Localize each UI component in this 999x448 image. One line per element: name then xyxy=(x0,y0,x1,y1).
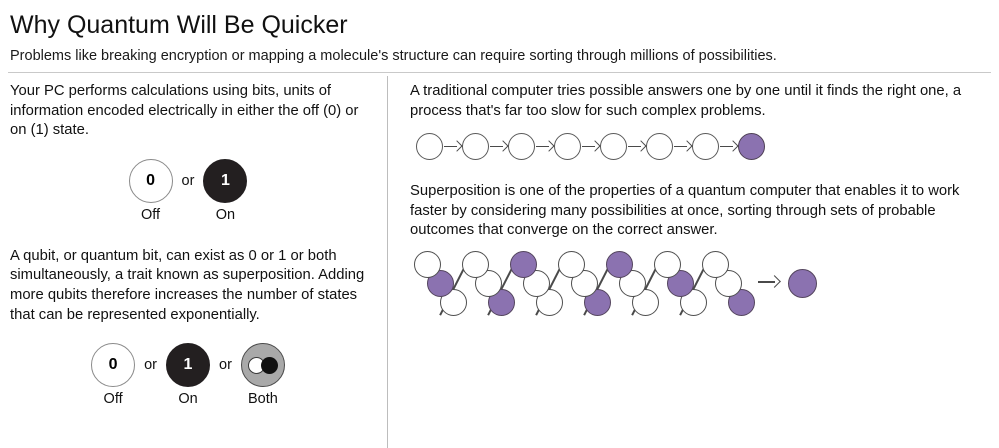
qubit-diagram: 0 Off or 1 On or Both xyxy=(10,343,366,407)
chain-node-1-empty-icon xyxy=(416,133,443,160)
qubit-both-inner-black-icon xyxy=(261,357,278,374)
bit-state-on: 1 On xyxy=(203,159,247,223)
chain-node-2-empty-icon xyxy=(462,133,489,160)
bit-label-on: On xyxy=(216,207,235,223)
bit-diagram: 0 Off or 1 On xyxy=(10,159,366,223)
content-columns: Your PC performs calculations using bits… xyxy=(0,78,999,447)
chain-arrow-5-icon xyxy=(627,141,646,153)
cluster-result-arrow-icon xyxy=(758,275,782,289)
cluster-circle-g2-1-empty-icon xyxy=(462,251,489,278)
qubit-label-on: On xyxy=(178,391,197,407)
qubit-circle-on-icon: 1 xyxy=(166,343,210,387)
qubit-state-both: Both xyxy=(241,343,285,407)
cluster-circle-g1-1-empty-icon xyxy=(414,251,441,278)
superposition-cluster-diagram xyxy=(414,251,987,323)
cluster-circle-g5-1-filled-icon xyxy=(606,251,633,278)
qubit-connector-or-1: or xyxy=(144,357,157,393)
chain-arrow-2-icon xyxy=(489,141,508,153)
qubit-connector-or-2: or xyxy=(219,357,232,393)
chain-node-8-filled-icon xyxy=(738,133,765,160)
bit-circle-off-icon: 0 xyxy=(129,159,173,203)
right-paragraph-1: A traditional computer tries possible an… xyxy=(410,82,987,121)
bit-value-off: 0 xyxy=(146,172,155,190)
qubit-label-both: Both xyxy=(248,391,278,407)
chain-arrow-7-icon xyxy=(719,141,738,153)
bit-label-off: Off xyxy=(141,207,160,223)
cluster-circle-g6-1-empty-icon xyxy=(654,251,681,278)
cluster-group-7 xyxy=(702,251,758,321)
chain-arrow-6-icon xyxy=(673,141,692,153)
chain-node-3-empty-icon xyxy=(508,133,535,160)
column-divider xyxy=(387,76,388,448)
cluster-result-node-filled-icon xyxy=(788,269,817,298)
qubit-state-on: 1 On xyxy=(166,343,210,407)
left-column: Your PC performs calculations using bits… xyxy=(0,78,388,447)
chain-node-6-empty-icon xyxy=(646,133,673,160)
qubit-label-off: Off xyxy=(104,391,123,407)
header-divider xyxy=(8,72,991,73)
bit-state-off: 0 Off xyxy=(129,159,173,223)
bit-value-on: 1 xyxy=(221,172,230,190)
cluster-circle-g3-1-filled-icon xyxy=(510,251,537,278)
cluster-circle-g7-1-empty-icon xyxy=(702,251,729,278)
chain-arrow-3-icon xyxy=(535,141,554,153)
sequential-search-diagram xyxy=(416,133,987,160)
qubit-circle-both-icon xyxy=(241,343,285,387)
header: Why Quantum Will Be Quicker Problems lik… xyxy=(0,0,999,65)
qubit-value-on: 1 xyxy=(184,356,193,374)
page-subtitle: Problems like breaking encryption or map… xyxy=(10,40,989,65)
qubit-state-off: 0 Off xyxy=(91,343,135,407)
infographic-page: Why Quantum Will Be Quicker Problems lik… xyxy=(0,0,999,447)
chain-arrow-4-icon xyxy=(581,141,600,153)
right-column: A traditional computer tries possible an… xyxy=(388,78,999,447)
left-paragraph-2: A qubit, or quantum bit, can exist as 0 … xyxy=(10,247,366,325)
qubit-value-off: 0 xyxy=(109,356,118,374)
left-paragraph-1: Your PC performs calculations using bits… xyxy=(10,82,366,141)
page-title: Why Quantum Will Be Quicker xyxy=(10,6,989,40)
qubit-circle-off-icon: 0 xyxy=(91,343,135,387)
cluster-circle-g4-1-empty-icon xyxy=(558,251,585,278)
bit-circle-on-icon: 1 xyxy=(203,159,247,203)
chain-node-5-empty-icon xyxy=(600,133,627,160)
chain-node-7-empty-icon xyxy=(692,133,719,160)
bit-connector-or: or xyxy=(182,173,195,209)
chain-node-4-empty-icon xyxy=(554,133,581,160)
chain-arrow-1-icon xyxy=(443,141,462,153)
right-paragraph-2: Superposition is one of the properties o… xyxy=(410,182,987,241)
